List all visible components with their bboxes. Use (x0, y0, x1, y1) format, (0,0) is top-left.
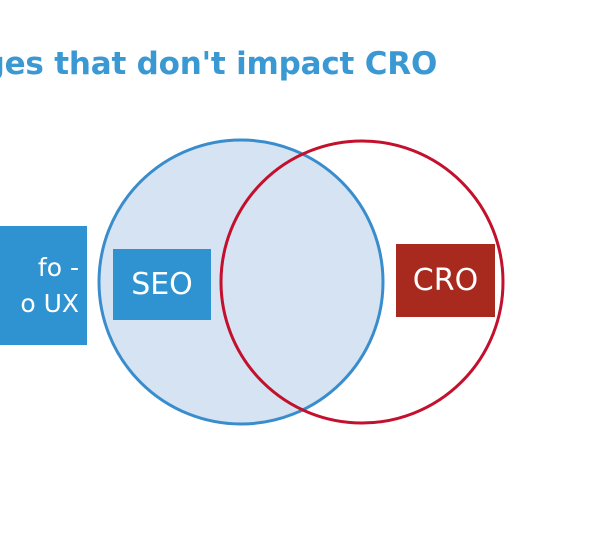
left-note-label: fo - o UX (0, 226, 87, 345)
venn-diagram (0, 0, 600, 540)
seo-label: SEO (113, 249, 211, 320)
left-note-label-text: fo - o UX (20, 250, 79, 322)
seo-label-text: SEO (131, 267, 193, 302)
slide-canvas: anges that don't impact CRO fo - o UX SE… (0, 0, 600, 540)
cro-label: CRO (396, 244, 495, 317)
cro-label-text: CRO (413, 263, 478, 298)
